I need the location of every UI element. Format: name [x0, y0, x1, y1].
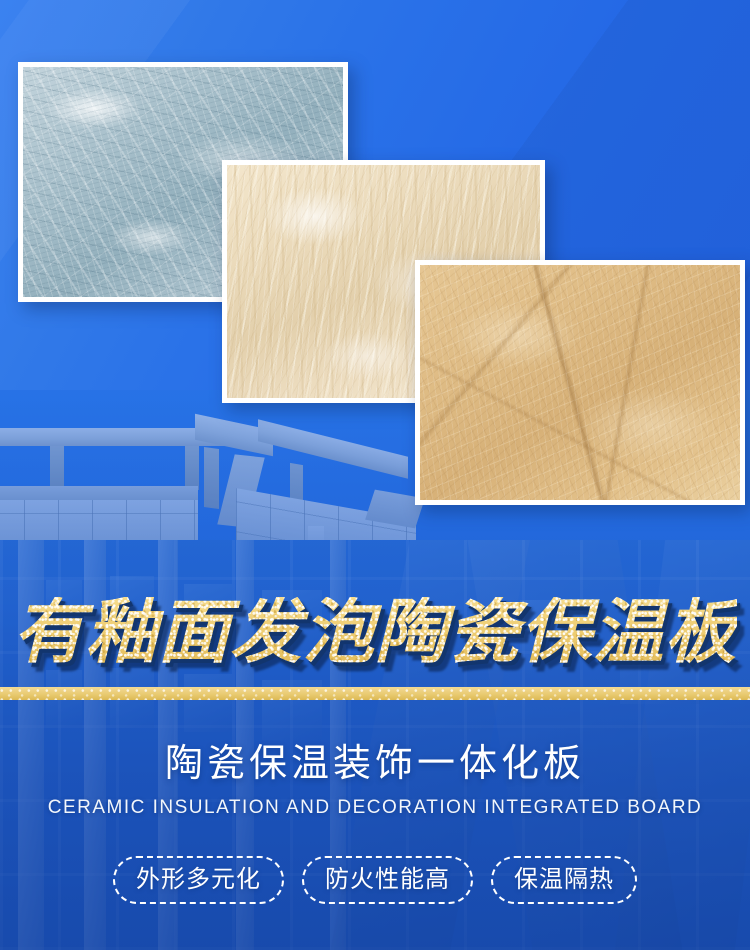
main-title-row: 有釉面发泡陶瓷保温板 [0, 586, 750, 678]
tile-texture-surface [420, 265, 740, 500]
subtitle-english: CERAMIC INSULATION AND DECORATION INTEGR… [0, 797, 750, 819]
feature-pill-fire-resistance[interactable]: 防火性能高 [302, 856, 473, 904]
gold-divider-band [0, 687, 750, 700]
feature-pill-thermal-insulation[interactable]: 保温隔热 [491, 856, 637, 904]
product-tile-tan-marble[interactable] [415, 260, 745, 505]
main-title: 有釉面发泡陶瓷保温板 [13, 597, 737, 667]
feature-pill-shape-variety[interactable]: 外形多元化 [113, 856, 284, 904]
feature-pill-list: 外形多元化 防火性能高 保温隔热 [0, 856, 750, 904]
subtitle-chinese: 陶瓷保温装饰一体化板 [0, 742, 750, 785]
product-banner: 有釉面发泡陶瓷保温板 陶瓷保温装饰一体化板 CERAMIC INSULATION… [0, 0, 750, 950]
